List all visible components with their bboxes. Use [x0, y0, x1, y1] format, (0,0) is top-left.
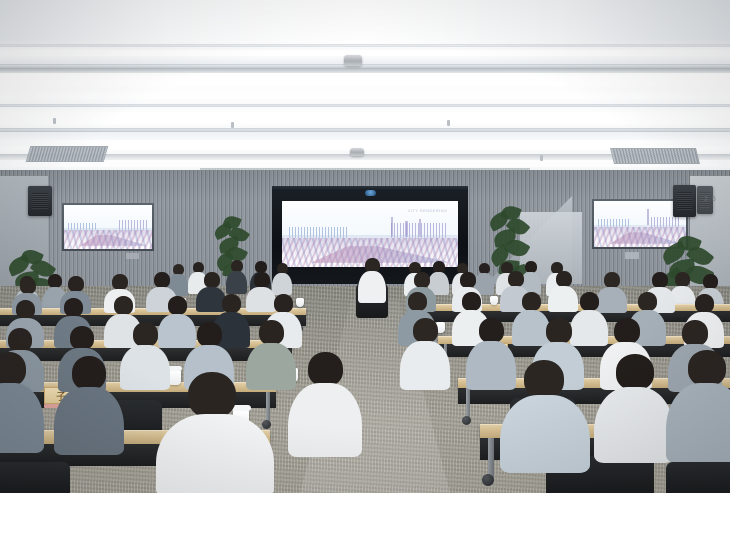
paper-cup [490, 296, 498, 305]
attendee [594, 354, 674, 460]
ceiling-light-strip [0, 76, 730, 85]
desk-leg [488, 438, 494, 478]
ceiling-light-strip [0, 50, 730, 56]
ceiling-light-strip [0, 92, 730, 99]
attendee [666, 350, 730, 460]
page-whitespace [0, 493, 730, 548]
smoke-detector-icon [350, 148, 364, 156]
smoke-detector-icon [344, 55, 362, 66]
sprinkler-head-icon [447, 120, 450, 126]
cityscape-image [64, 205, 152, 249]
screen-corner-label: CITY RENDERING [408, 208, 448, 213]
attendee [0, 352, 44, 450]
attendee [500, 360, 590, 470]
sprinkler-head-icon [231, 122, 234, 128]
air-vent-grille [26, 146, 109, 162]
sprinkler-head-icon [53, 118, 56, 124]
conference-room-photo: CITY RENDERING [0, 0, 730, 493]
wall-plate [625, 252, 639, 259]
desk-caster [482, 474, 494, 486]
attendee [226, 260, 247, 292]
attendee [400, 318, 450, 388]
wall-speaker [673, 185, 696, 217]
chair [0, 462, 70, 493]
attendee [156, 372, 274, 493]
chair [666, 462, 730, 493]
ceiling-light-strip [0, 112, 730, 124]
sprinkler-head-icon [540, 155, 543, 161]
conference-camera-icon[interactable] [365, 190, 376, 196]
desk-leg [466, 388, 470, 418]
attendee [54, 356, 124, 452]
wall-speaker [28, 186, 52, 216]
attendee [358, 258, 386, 302]
attendee [288, 352, 362, 454]
ceiling [0, 0, 730, 190]
air-vent-grille [610, 148, 700, 164]
wall-sign: 2.5 [704, 196, 717, 203]
wall-plate [126, 253, 139, 259]
left-display[interactable] [62, 203, 154, 251]
desk-caster [462, 416, 471, 425]
